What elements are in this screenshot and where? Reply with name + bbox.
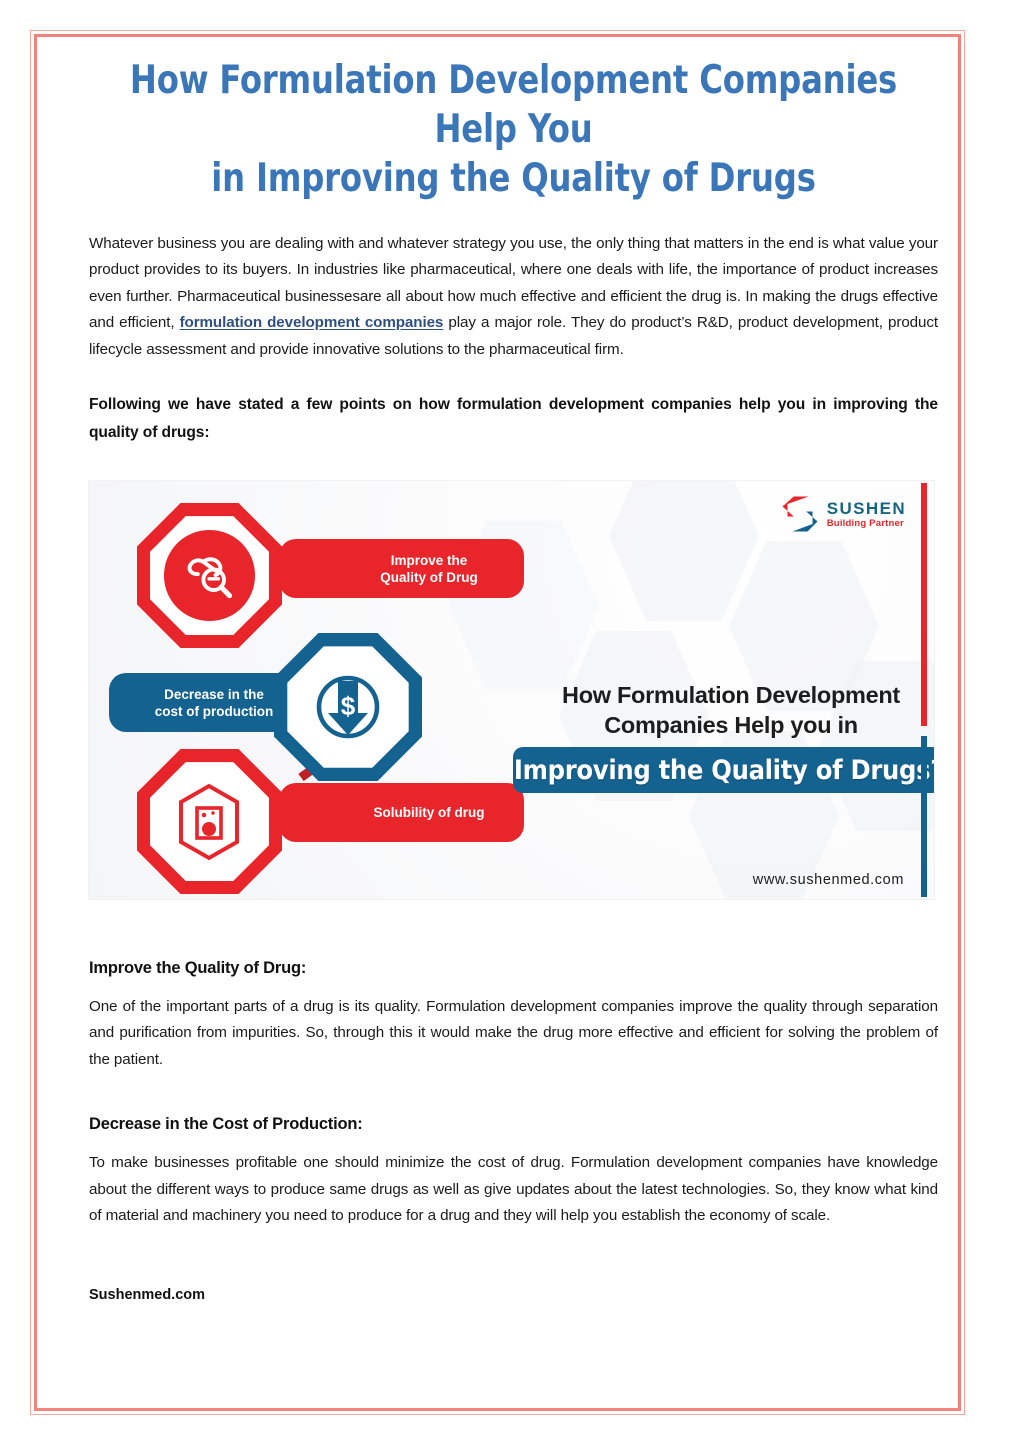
lead-bold-paragraph: Following we have stated a few points on… [89, 391, 938, 447]
infographic-headline-band: Improving the Quality of Drugs? [513, 747, 934, 793]
intro-paragraph: Whatever business you are dealing with a… [89, 231, 938, 363]
spacer [89, 1229, 938, 1287]
page-title: How Formulation Development Companies He… [123, 56, 904, 203]
octagon-core-red [164, 530, 254, 620]
octagon-inner-white [150, 762, 269, 881]
section-body-decrease-cost: To make businesses profitable one should… [89, 1150, 938, 1229]
spacer [89, 363, 938, 391]
section-body-improve-quality: One of the important parts of a drug is … [89, 994, 938, 1073]
badge-octagon-decrease-cost: $ [274, 633, 422, 781]
pill-magnifier-icon [179, 546, 239, 606]
accent-bar-blue [921, 736, 927, 897]
infographic-website-url: www.sushenmed.com [753, 872, 904, 888]
badge-octagon-solubility [137, 749, 282, 894]
infographic-image: Improve the Quality of Drug [89, 481, 934, 899]
sushen-logo-mark-icon [780, 495, 820, 533]
logo-tagline: Building Partner [827, 519, 906, 529]
badge-octagon-improve-quality [137, 503, 282, 648]
spacer [89, 1134, 938, 1150]
sushen-logo: SUSHEN Building Partner [780, 495, 906, 533]
accent-bar-red [921, 483, 927, 726]
octagon-inner-white: $ [287, 646, 408, 767]
section-heading-decrease-cost: Decrease in the Cost of Production: [89, 1115, 938, 1134]
sushen-logo-wordmark: SUSHEN Building Partner [827, 500, 906, 529]
infographic-headline: How Formulation Development Companies He… [521, 680, 934, 740]
spacer [89, 978, 938, 994]
footer-site-name: Sushenmed.com [89, 1287, 938, 1303]
document-content: How Formulation Development Companies He… [89, 56, 938, 1303]
formulation-development-companies-link[interactable]: formulation development companies [180, 314, 444, 331]
badge-label-improve-quality: Improve the Quality of Drug [279, 539, 524, 598]
svg-text:$: $ [341, 691, 356, 721]
badge-label-solubility: Solubility of drug [279, 783, 524, 842]
dollar-down-arrow-icon: $ [308, 667, 388, 747]
section-heading-improve-quality: Improve the Quality of Drug: [89, 959, 938, 978]
octagon-inner-white [150, 516, 269, 635]
beaker-dissolve-icon [161, 774, 257, 870]
spacer [89, 1073, 938, 1115]
spacer [89, 899, 938, 959]
logo-name: SUSHEN [827, 500, 906, 517]
